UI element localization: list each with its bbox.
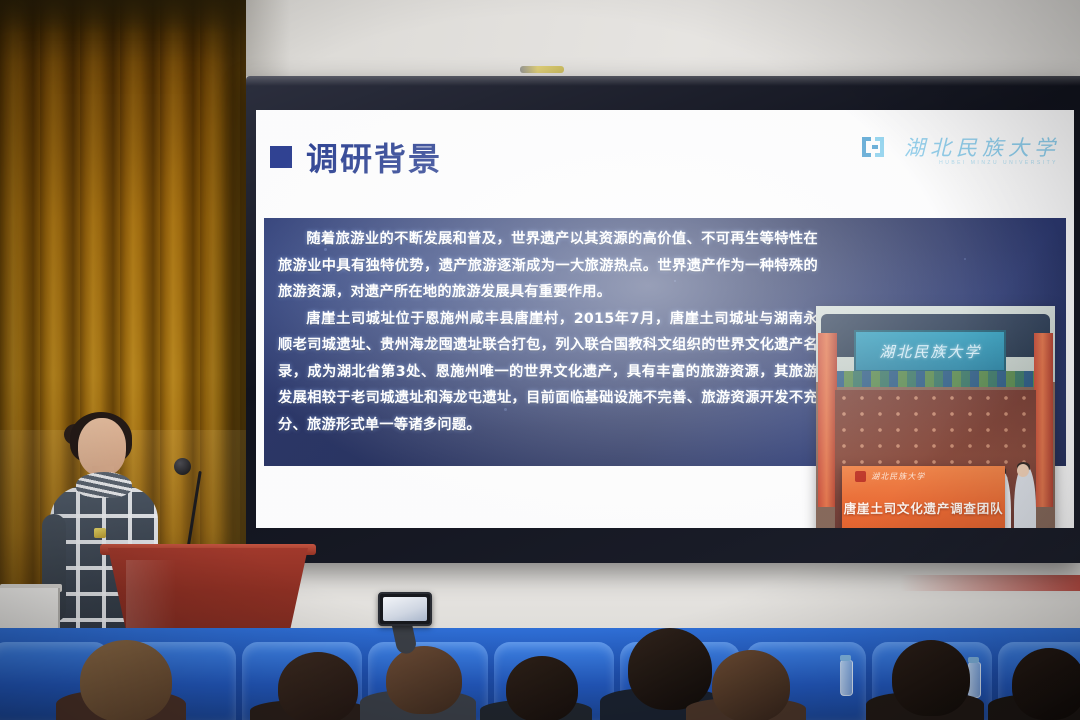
photo-person-head <box>1017 464 1029 477</box>
smartphone-screen[interactable] <box>383 597 427 621</box>
university-logo: 湖北民族大学 <box>858 132 1060 162</box>
audience-head <box>80 640 172 720</box>
wall-red-band <box>900 575 1080 591</box>
photo-painted-beam <box>826 371 1046 387</box>
audience-head <box>278 652 358 720</box>
audience-head <box>386 646 462 714</box>
slide-title-text: 调研背景 <box>306 134 442 180</box>
photo-team-banner: 湖北民族大学 唐崖土司文化遗产调查团队 湖北民族大学2018年暑期社会实践活动 <box>842 466 1005 528</box>
microphone-head-icon <box>174 458 191 475</box>
panel-speck <box>964 258 966 260</box>
slide-photo-team: 湖北民族大学 <box>816 306 1055 528</box>
body-paragraph-1: 随着旅游业的不断发展和普及，世界遗产以其资源的高价值、不可再生等特性在旅游业中具… <box>278 226 818 306</box>
hubei-minzu-logo-mark-icon <box>858 132 892 162</box>
bezel-highlight <box>246 76 1080 86</box>
photo-banner-main-text: 唐崖土司文化遗产调查团队 <box>842 498 1005 517</box>
photo-banner-header: 湖北民族大学 <box>855 471 925 482</box>
photo-gate-plaque-text: 湖北民族大学 <box>856 332 1004 370</box>
body-paragraph-2: 唐崖土司城址位于恩施州咸丰县唐崖村，2015年7月，唐崖土司城址与湖南永顺老司城… <box>278 306 818 439</box>
photo-gate-plaque: 湖北民族大学 <box>854 330 1006 372</box>
audience-head <box>628 628 712 710</box>
water-bottle-cap <box>968 657 979 663</box>
screen-mount-bracket <box>520 66 564 73</box>
presenter-badge <box>94 528 106 538</box>
audience-head <box>712 650 790 720</box>
slide-body-text: 随着旅游业的不断发展和普及，世界遗产以其资源的高价值、不可再生等特性在旅游业中具… <box>278 226 818 438</box>
photo-red-column-right <box>1034 333 1053 506</box>
audience-head <box>892 640 970 716</box>
university-logo-name: 湖北民族大学 <box>904 132 1060 162</box>
photo-banner-university: 湖北民族大学 <box>871 471 925 482</box>
water-bottle-cap <box>840 655 851 661</box>
presenter-scarf <box>76 472 132 498</box>
water-bottle <box>840 660 853 696</box>
square-bullet-icon <box>270 146 292 168</box>
photo-banner-logo-icon <box>855 471 866 482</box>
smartphone[interactable] <box>378 592 432 626</box>
slide-body-panel: 随着旅游业的不断发展和普及，世界遗产以其资源的高价值、不可再生等特性在旅游业中具… <box>264 218 1066 466</box>
presentation-slide: 调研背景 湖北民族大学 HUBEI MINZU UNIVERSITY 随着旅游业… <box>256 110 1074 528</box>
curtain-top-shadow <box>0 0 246 34</box>
audience-head <box>506 656 578 720</box>
presentation-room-photo: 调研背景 湖北民族大学 HUBEI MINZU UNIVERSITY 随着旅游业… <box>0 0 1080 720</box>
university-logo-latin: HUBEI MINZU UNIVERSITY <box>939 160 1058 166</box>
audience-head <box>1012 648 1080 720</box>
slide-title: 调研背景 <box>270 134 442 180</box>
